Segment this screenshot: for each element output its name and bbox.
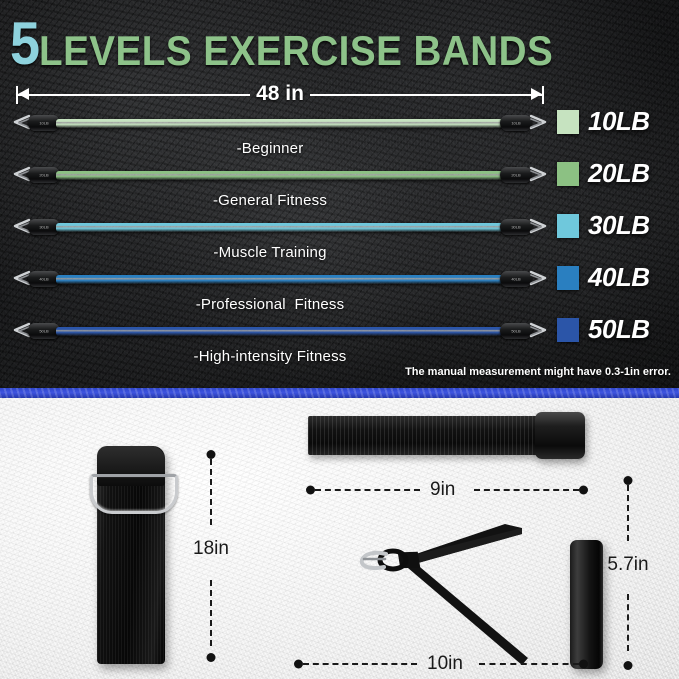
dimension-dot-left: [306, 486, 315, 495]
d-ring-icon: [90, 474, 178, 514]
handle-height-dimension-label: 5.7in: [607, 554, 648, 576]
ankle-strap-dimension-label: 18in: [193, 538, 229, 560]
title-number: 5: [10, 14, 38, 74]
dimension-dot-right: [579, 486, 588, 495]
band-weight-label: 40LB: [588, 262, 650, 293]
band-graphic: 20LB20LB: [10, 164, 550, 186]
title-text: LEVELS EXERCISE BANDS: [39, 30, 553, 72]
band-graphic: 40LB40LB: [10, 268, 550, 290]
dimension-line-left: [303, 663, 417, 665]
band-sleeve-right-label: 10LB: [511, 121, 520, 126]
band-length-dimension: 48 in: [16, 84, 544, 106]
carabiner-clip-right-icon: [528, 321, 550, 341]
carabiner-clip-right-icon: [528, 269, 550, 289]
handle-grip: [570, 540, 603, 669]
band-sleeve-right-label: 50LB: [511, 329, 520, 334]
band-graphic: 50LB50LB: [10, 320, 550, 342]
band-weight-label: 30LB: [588, 210, 650, 241]
band-color-swatch: [557, 214, 579, 238]
bands-section: 5 LEVELS EXERCISE BANDS 48 in 10LB10LB-B…: [0, 0, 679, 388]
resistance-band-tube: [56, 119, 504, 128]
dimension-line-right: [479, 663, 579, 665]
dimension-line-top: [210, 459, 212, 525]
band-sleeve-left-label: 30LB: [39, 225, 48, 230]
dimension-line-top: [627, 485, 629, 541]
band-color-swatch: [557, 162, 579, 186]
band-level-label: -Professional Fitness: [0, 296, 540, 313]
accessories-section: 18in 9in 10in: [0, 398, 679, 679]
measurement-disclaimer: The manual measurement might have 0.3-1i…: [405, 366, 671, 378]
dimension-dot-bottom: [207, 653, 216, 662]
band-level-label: -General Fitness: [0, 192, 540, 209]
carabiner-clip-right-icon: [528, 165, 550, 185]
door-anchor-dimension: 9in: [306, 480, 588, 500]
resistance-band-tube: [56, 275, 504, 284]
carabiner-clip-right-icon: [528, 113, 550, 133]
resistance-band-tube: [56, 327, 504, 336]
ankle-strap-dimension: 18in: [191, 450, 231, 662]
dimension-line-right: [474, 489, 579, 491]
band-weight-label: 50LB: [588, 314, 650, 345]
band-sleeve-right-label: 20LB: [511, 173, 520, 178]
band-level-label: -High-intensity Fitness: [0, 348, 540, 365]
handle-height-dimension: 5.7in: [608, 476, 648, 670]
band-row: 20LB20LB-General Fitness20LB: [0, 156, 679, 208]
band-level-label: -Muscle Training: [0, 244, 540, 261]
band-row: 10LB10LB-Beginner10LB: [0, 104, 679, 156]
handle-width-dimension-label: 10in: [422, 653, 468, 675]
door-anchor-strap: [308, 416, 538, 455]
band-level-label: -Beginner: [0, 140, 540, 157]
dimension-dot-bottom: [624, 661, 633, 670]
band-color-swatch: [557, 266, 579, 290]
band-sleeve-right-label: 30LB: [511, 225, 520, 230]
band-sleeve-left-label: 20LB: [39, 173, 48, 178]
door-anchor-dimension-label: 9in: [425, 479, 460, 501]
band-sleeve-left-label: 40LB: [39, 277, 48, 282]
band-color-swatch: [557, 318, 579, 342]
band-length-label: 48 in: [16, 82, 544, 106]
carabiner-clip-right-icon: [528, 217, 550, 237]
dimension-line-bottom: [210, 580, 212, 646]
band-weight-label: 10LB: [588, 106, 650, 137]
band-sleeve-left-label: 10LB: [39, 121, 48, 126]
section-divider: [0, 388, 679, 398]
band-row: 30LB30LB-Muscle Training30LB: [0, 208, 679, 260]
dimension-line-left: [315, 489, 420, 491]
dimension-dot-top: [207, 450, 216, 459]
band-row: 40LB40LB-Professional Fitness40LB: [0, 260, 679, 312]
dimension-line-bottom: [627, 594, 629, 651]
band-graphic: 10LB10LB: [10, 112, 550, 134]
resistance-band-tube: [56, 171, 504, 180]
band-row: 50LB50LB-High-intensity Fitness50LB: [0, 312, 679, 364]
band-color-swatch: [557, 110, 579, 134]
product-infographic: 5 LEVELS EXERCISE BANDS 48 in 10LB10LB-B…: [0, 0, 679, 679]
resistance-band-tube: [56, 223, 504, 232]
page-title: 5 LEVELS EXERCISE BANDS: [10, 14, 598, 74]
dimension-dot-left: [294, 660, 303, 669]
band-sleeve-right-label: 40LB: [511, 277, 520, 282]
band-weight-label: 20LB: [588, 158, 650, 189]
door-anchor-stopper: [535, 412, 585, 459]
band-graphic: 30LB30LB: [10, 216, 550, 238]
dimension-dot-top: [624, 476, 633, 485]
handle-width-dimension: 10in: [294, 654, 588, 674]
band-sleeve-left-label: 50LB: [39, 329, 48, 334]
dimension-dot-right: [579, 660, 588, 669]
